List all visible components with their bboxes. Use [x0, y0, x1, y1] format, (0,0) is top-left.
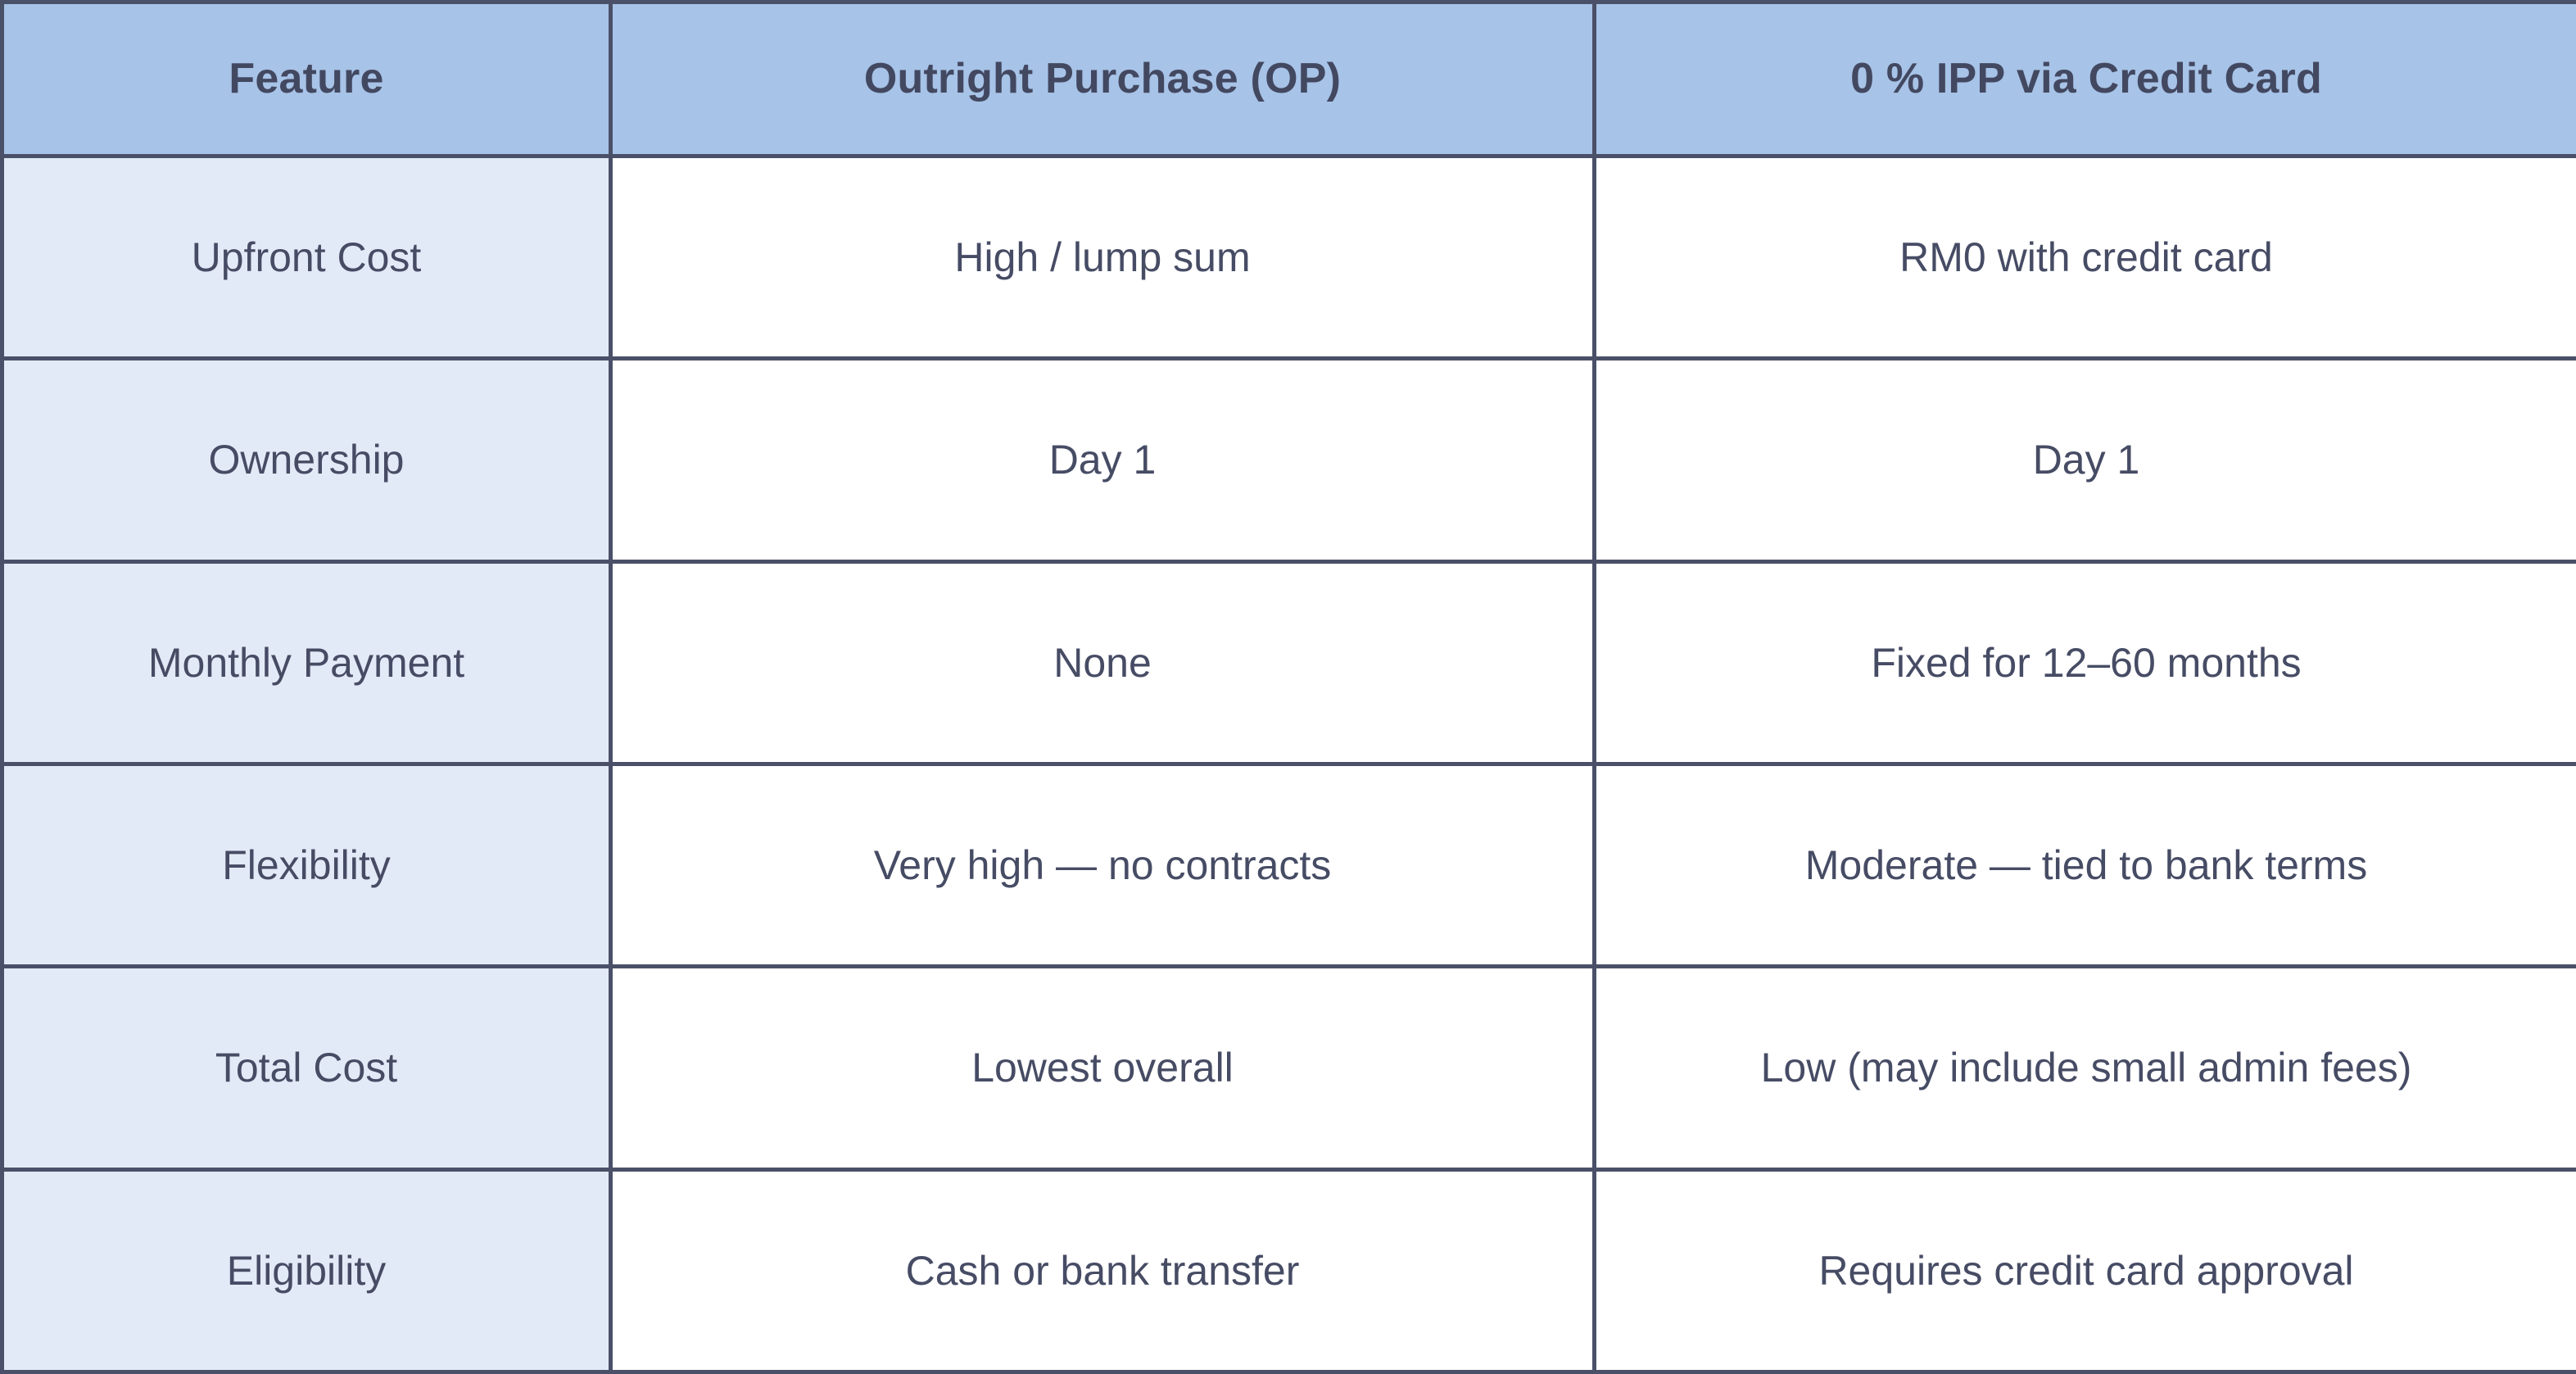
cell-text: High / lump sum	[641, 230, 1564, 284]
cell-text: Upfront Cost	[32, 230, 581, 284]
cell-op-total-cost: Lowest overall	[611, 967, 1595, 1169]
column-header-feature: Feature	[2, 2, 611, 156]
cell-feature-upfront-cost: Upfront Cost	[2, 156, 611, 359]
table-row: Total Cost Lowest overall Low (may inclu…	[2, 967, 2576, 1169]
cell-text: Flexibility	[32, 838, 581, 892]
cell-text: Day 1	[641, 433, 1564, 487]
cell-feature-ownership: Ownership	[2, 359, 611, 561]
cell-ipp-total-cost: Low (may include small admin fees)	[1595, 967, 2576, 1169]
cell-text: Monthly Payment	[32, 636, 581, 690]
cell-text: Day 1	[1624, 433, 2548, 487]
column-header-outright-purchase: Outright Purchase (OP)	[611, 2, 1595, 156]
cell-ipp-ownership: Day 1	[1595, 359, 2576, 561]
cell-text: Total Cost	[32, 1041, 581, 1095]
cell-ipp-monthly-payment: Fixed for 12–60 months	[1595, 561, 2576, 764]
cell-text: Requires credit card approval	[1624, 1244, 2548, 1298]
column-header-outright-purchase-label: Outright Purchase (OP)	[641, 53, 1564, 105]
table-header-row: Feature Outright Purchase (OP) 0 % IPP v…	[2, 2, 2576, 156]
cell-text: Very high — no contracts	[641, 838, 1564, 892]
cell-text: Eligibility	[32, 1244, 581, 1298]
column-header-feature-label: Feature	[32, 53, 581, 105]
comparison-table-container: Feature Outright Purchase (OP) 0 % IPP v…	[0, 0, 2576, 1374]
column-header-ipp-credit-card-label: 0 % IPP via Credit Card	[1624, 53, 2548, 105]
cell-text: Low (may include small admin fees)	[1624, 1041, 2548, 1095]
cell-op-flexibility: Very high — no contracts	[611, 764, 1595, 966]
cell-op-ownership: Day 1	[611, 359, 1595, 561]
table-header: Feature Outright Purchase (OP) 0 % IPP v…	[2, 2, 2576, 156]
column-header-ipp-credit-card: 0 % IPP via Credit Card	[1595, 2, 2576, 156]
cell-op-monthly-payment: None	[611, 561, 1595, 764]
table-row: Flexibility Very high — no contracts Mod…	[2, 764, 2576, 966]
cell-text: RM0 with credit card	[1624, 230, 2548, 284]
cell-text: None	[641, 636, 1564, 690]
cell-feature-eligibility: Eligibility	[2, 1169, 611, 1372]
cell-feature-monthly-payment: Monthly Payment	[2, 561, 611, 764]
cell-op-upfront-cost: High / lump sum	[611, 156, 1595, 359]
cell-text: Fixed for 12–60 months	[1624, 636, 2548, 690]
comparison-table: Feature Outright Purchase (OP) 0 % IPP v…	[0, 0, 2576, 1374]
cell-text: Lowest overall	[641, 1041, 1564, 1095]
cell-op-eligibility: Cash or bank transfer	[611, 1169, 1595, 1372]
cell-ipp-eligibility: Requires credit card approval	[1595, 1169, 2576, 1372]
table-row: Upfront Cost High / lump sum RM0 with cr…	[2, 156, 2576, 359]
cell-text: Moderate — tied to bank terms	[1624, 838, 2548, 892]
cell-text: Ownership	[32, 433, 581, 487]
cell-ipp-upfront-cost: RM0 with credit card	[1595, 156, 2576, 359]
cell-text: Cash or bank transfer	[641, 1244, 1564, 1298]
table-row: Monthly Payment None Fixed for 12–60 mon…	[2, 561, 2576, 764]
table-row: Ownership Day 1 Day 1	[2, 359, 2576, 561]
cell-feature-total-cost: Total Cost	[2, 967, 611, 1169]
cell-ipp-flexibility: Moderate — tied to bank terms	[1595, 764, 2576, 966]
table-body: Upfront Cost High / lump sum RM0 with cr…	[2, 156, 2576, 1372]
cell-feature-flexibility: Flexibility	[2, 764, 611, 966]
table-row: Eligibility Cash or bank transfer Requir…	[2, 1169, 2576, 1372]
